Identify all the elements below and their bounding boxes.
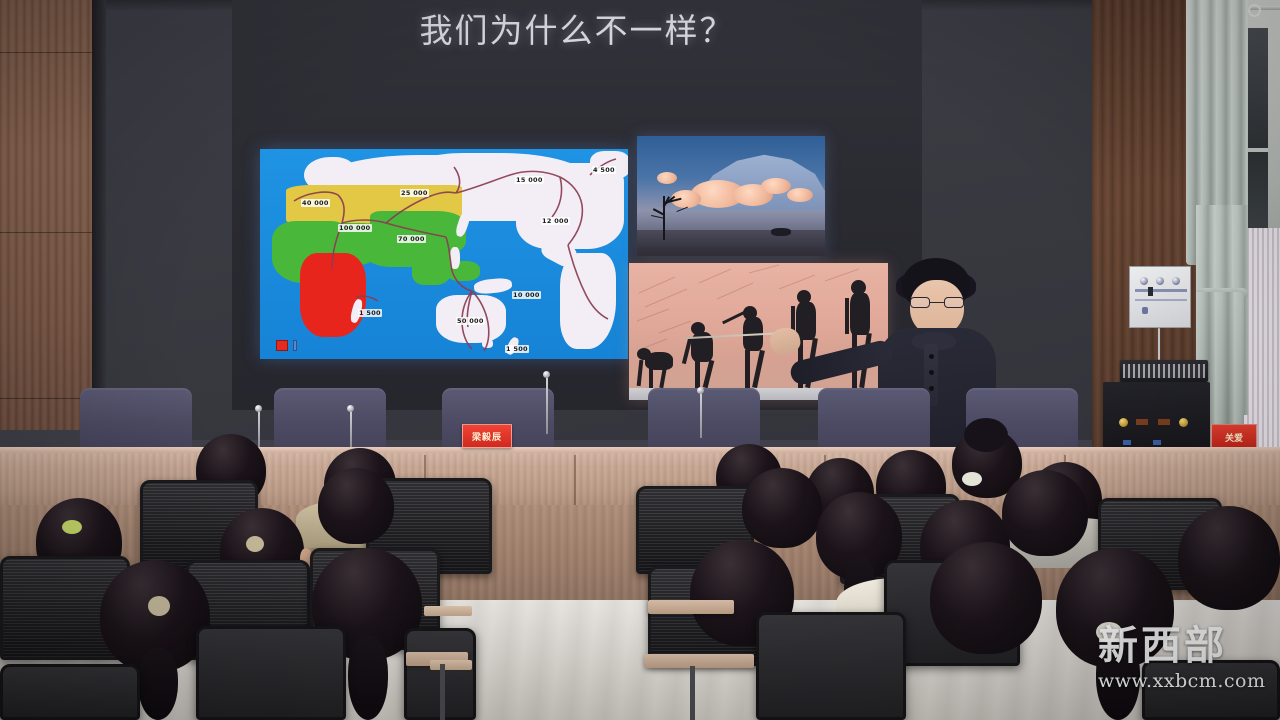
human-evolution-illustration (629, 263, 888, 400)
classroom-lecture-photo: 我们为什么不一样？ (0, 0, 1280, 720)
gooseneck-microphone (258, 410, 260, 448)
gooseneck-microphone (350, 410, 352, 448)
chair-writing-tablet (430, 660, 472, 670)
student-head (318, 468, 394, 544)
desk-leg (690, 666, 695, 720)
panel-busbar (1135, 299, 1187, 301)
desk-leg (440, 664, 445, 720)
stage-chair[interactable] (648, 388, 760, 452)
hair-scrunchie (1096, 622, 1122, 642)
curtain-ring (1248, 4, 1261, 17)
microphone-head (255, 405, 262, 412)
map-label-70000: 70 000 (397, 235, 426, 243)
microphone-head (543, 371, 550, 378)
eyeglasses (910, 297, 964, 308)
chair-writing-tablet (424, 606, 472, 616)
electrical-control-panel[interactable] (1129, 266, 1191, 328)
hair-scrunchie (962, 472, 982, 486)
map-label-4500: 4 500 (592, 166, 616, 174)
map-label-10000: 10 000 (512, 291, 541, 299)
audio-mixer[interactable] (1120, 360, 1208, 382)
wall-gap-shadow (92, 0, 106, 430)
savanna-bush (771, 228, 791, 236)
panel-knob[interactable] (1140, 277, 1148, 285)
hair-scrunchie (62, 520, 82, 534)
rack-label (1136, 419, 1148, 425)
rack-led (1123, 440, 1131, 445)
desk-seam (574, 455, 576, 507)
mixer-faders[interactable] (1123, 364, 1205, 378)
cloud (761, 178, 791, 194)
rack-label (1158, 419, 1170, 425)
stage-chair[interactable] (818, 388, 930, 452)
map-legend (276, 340, 297, 351)
map-label-25000: 25 000 (400, 189, 429, 197)
hair-scrunchie (148, 596, 170, 616)
map-label-1500: 1 500 (505, 345, 529, 353)
rack-led (1153, 440, 1161, 445)
audience-chair[interactable] (756, 612, 906, 720)
gooseneck-microphone (546, 376, 548, 434)
student-head (742, 468, 822, 548)
human-migration-map: 40 00025 000100 00070 00015 0004 50012 0… (260, 149, 628, 359)
hair-scrunchie (246, 536, 264, 552)
rack-knob[interactable] (1119, 418, 1128, 427)
audience-chair[interactable] (1142, 660, 1280, 720)
rack-gooseneck (1158, 328, 1160, 360)
panel-knob[interactable] (1156, 277, 1164, 285)
button (929, 370, 934, 375)
map-label-12000: 12 000 (541, 217, 570, 225)
map-label-50000: 50 000 (456, 317, 485, 325)
audience-desk (648, 600, 734, 614)
audience-chair[interactable] (196, 626, 346, 720)
panel-knob[interactable] (1172, 277, 1180, 285)
audience-desk (644, 654, 754, 668)
map-label-1500: 1 500 (358, 309, 382, 317)
hominid-figure-2 (683, 322, 723, 388)
legend-swatch-red (276, 340, 288, 351)
hominid-figure-1 (635, 344, 677, 388)
gooseneck-microphone (700, 392, 702, 438)
rack-knob[interactable] (1179, 418, 1188, 427)
panel-switch[interactable] (1142, 307, 1148, 314)
audience-chair[interactable] (0, 664, 140, 720)
map-label-100000: 100 000 (338, 224, 372, 232)
savanna-ground (637, 230, 825, 256)
map-label-15000: 15 000 (515, 176, 544, 184)
map-label-40000: 40 000 (301, 199, 330, 207)
student-head (1178, 506, 1280, 610)
student-head (930, 542, 1042, 654)
button (929, 354, 934, 359)
panel-switch[interactable] (1148, 287, 1153, 296)
speaker-nameplate: 梁毅辰 (462, 424, 512, 448)
hominid-figure-3 (733, 306, 775, 388)
stage-chair[interactable] (274, 388, 386, 452)
left-wood-wall (0, 0, 96, 430)
legend-swatch-blue (293, 340, 297, 351)
student-head (1002, 470, 1088, 556)
ponytail (138, 648, 178, 720)
stage-chair[interactable] (80, 388, 192, 452)
hair-bun (964, 418, 1008, 452)
cloud (657, 172, 677, 184)
migration-routes (260, 149, 628, 359)
ponytail (1096, 636, 1140, 720)
microphone-head (347, 405, 354, 412)
desk-top-edge (0, 447, 1280, 453)
cloud (787, 188, 813, 202)
ponytail (348, 636, 388, 720)
microphone-head (697, 387, 704, 394)
slide-title: 我们为什么不一样？ (232, 4, 922, 52)
savanna-mountain-photo (637, 136, 825, 256)
panel-busbar (1135, 289, 1187, 292)
